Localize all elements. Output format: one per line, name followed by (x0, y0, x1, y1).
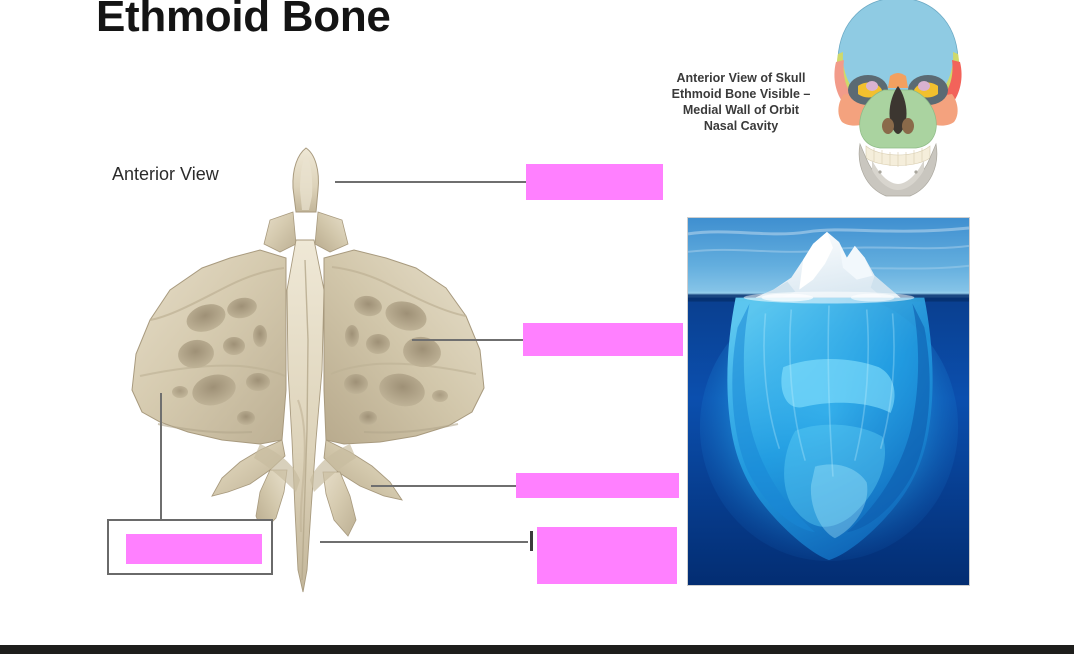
iceberg-photo (687, 217, 970, 586)
skull-illustration (822, 0, 974, 206)
skull-caption-line-3: Medial Wall of Orbit (648, 102, 834, 118)
answer-blank-5[interactable] (126, 534, 262, 564)
skull-caption-line-2: Ethmoid Bone Visible – (648, 86, 834, 102)
leader-line-4 (320, 541, 528, 543)
answer-blank-3[interactable] (516, 473, 679, 498)
leader-line-5 (160, 393, 162, 520)
slide-canvas: Ethmoid Bone (0, 0, 1074, 654)
leader-line-2 (412, 339, 523, 341)
skull-caption-line-1: Anterior View of Skull (648, 70, 834, 86)
answer-blank-2[interactable] (523, 323, 683, 356)
answer-blank-1[interactable] (526, 164, 663, 200)
answer-blank-4[interactable] (537, 527, 677, 584)
leader-line-1 (335, 181, 526, 183)
answer-blank-5-frame (107, 519, 273, 575)
anterior-view-label: Anterior View (112, 164, 219, 185)
page-title: Ethmoid Bone (96, 0, 391, 42)
bottom-bar (0, 645, 1074, 654)
skull-caption: Anterior View of Skull Ethmoid Bone Visi… (648, 70, 834, 134)
leader-line-3 (371, 485, 516, 487)
leader-line-4-tick (530, 531, 533, 551)
skull-caption-line-4: Nasal Cavity (648, 118, 834, 134)
